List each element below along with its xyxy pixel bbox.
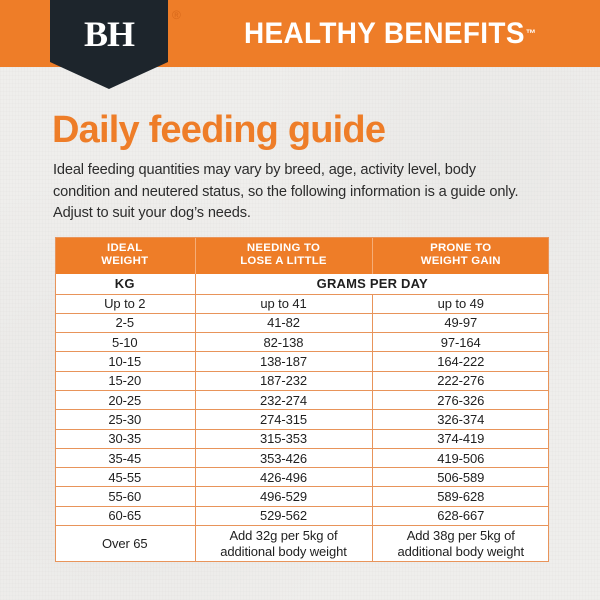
brand-title: HEALTHY BENEFITS™ (195, 0, 586, 67)
cell-lose-a-little: 529-562 (195, 506, 372, 525)
table-row: 55-60496-529589-628 (55, 487, 549, 506)
cell-lose-a-little: 274-315 (195, 410, 372, 429)
cell-weight-gain: Add 38g per 5kg ofadditional body weight (372, 526, 549, 562)
cell-ideal-weight: 15-20 (55, 371, 195, 390)
cell-line1: Add 32g per 5kg of (229, 528, 337, 543)
cell-weight-gain: up to 49 (372, 294, 549, 313)
table-row: 60-65529-562628-667 (55, 506, 549, 525)
cell-ideal-weight: Up to 2 (55, 294, 195, 313)
trademark-icon: ™ (526, 28, 536, 40)
table-row: 2-541-8249-97 (55, 313, 549, 332)
column-header-line2: LOSE A LITTLE (240, 255, 327, 267)
cell-weight-gain: 589-628 (372, 487, 549, 506)
cell-lose-a-little: 232-274 (195, 390, 372, 409)
column-header-line1: PRONE TO (430, 242, 491, 254)
table-body: Up to 2up to 41up to 492-541-8249-975-10… (55, 294, 549, 561)
table-row: 15-20187-232222-276 (55, 371, 549, 390)
cell-ideal-weight: 55-60 (55, 487, 195, 506)
feeding-guide-page: BH ® HEALTHY BENEFITS™ Daily feeding gui… (0, 0, 600, 600)
cell-weight-gain: 164-222 (372, 352, 549, 371)
table-row: 20-25232-274276-326 (55, 390, 549, 409)
table-row-over-65: Over 65Add 32g per 5kg ofadditional body… (55, 526, 549, 562)
cell-lose-a-little: 315-353 (195, 429, 372, 448)
table-row: 5-1082-13897-164 (55, 333, 549, 352)
intro-paragraph: Ideal feeding quantities may vary by bre… (53, 160, 523, 225)
cell-lose-a-little: 353-426 (195, 448, 372, 467)
cell-ideal-weight: 60-65 (55, 506, 195, 525)
column-header-line2: WEIGHT (101, 255, 148, 267)
cell-lose-a-little: 41-82 (195, 313, 372, 332)
cell-ideal-weight: 20-25 (55, 390, 195, 409)
cell-lose-a-little: 496-529 (195, 487, 372, 506)
cell-weight-gain: 506-589 (372, 468, 549, 487)
table-header-row: IDEAL WEIGHT NEEDING TO LOSE A LITTLE PR… (55, 237, 549, 274)
cell-ideal-weight: 35-45 (55, 448, 195, 467)
column-header-needing-to-lose-a-little: NEEDING TO LOSE A LITTLE (195, 237, 372, 274)
table-row: 30-35315-353374-419 (55, 429, 549, 448)
cell-weight-gain: 374-419 (372, 429, 549, 448)
column-header-line1: NEEDING TO (247, 242, 320, 254)
column-header-ideal-weight: IDEAL WEIGHT (55, 237, 195, 274)
cell-weight-gain: 49-97 (372, 313, 549, 332)
brand-title-text: HEALTHY BENEFITS (244, 17, 525, 51)
cell-ideal-weight: 10-15 (55, 352, 195, 371)
registered-trademark-icon: ® (172, 8, 181, 22)
table-row: 25-30274-315326-374 (55, 410, 549, 429)
cell-ideal-weight: 2-5 (55, 313, 195, 332)
cell-ideal-weight: 30-35 (55, 429, 195, 448)
cell-lose-a-little: 187-232 (195, 371, 372, 390)
feeding-guide-table: IDEAL WEIGHT NEEDING TO LOSE A LITTLE PR… (55, 237, 549, 561)
table-row: 35-45353-426419-506 (55, 448, 549, 467)
cell-weight-gain: 222-276 (372, 371, 549, 390)
cell-ideal-weight: Over 65 (55, 526, 195, 562)
cell-ideal-weight: 45-55 (55, 468, 195, 487)
brand-logo-bh: BH (50, 0, 168, 67)
cell-line1: Add 38g per 5kg of (407, 528, 515, 543)
cell-weight-gain: 326-374 (372, 410, 549, 429)
column-header-line2: WEIGHT GAIN (421, 255, 501, 267)
table-subheader-row: KG GRAMS PER DAY (55, 274, 549, 294)
subheader-unit-kg: KG (55, 274, 195, 294)
cell-weight-gain: 97-164 (372, 333, 549, 352)
table-row: Up to 2up to 41up to 49 (55, 294, 549, 313)
column-header-line1: IDEAL (107, 242, 142, 254)
cell-ideal-weight: 25-30 (55, 410, 195, 429)
cell-ideal-weight: 5-10 (55, 333, 195, 352)
cell-weight-gain: 628-667 (372, 506, 549, 525)
subheader-grams-per-day: GRAMS PER DAY (195, 274, 549, 294)
page-title: Daily feeding guide (52, 108, 385, 152)
table-row: 10-15138-187164-222 (55, 352, 549, 371)
cell-line2: additional body weight (398, 544, 524, 559)
cell-lose-a-little: Add 32g per 5kg ofadditional body weight (195, 526, 372, 562)
cell-weight-gain: 276-326 (372, 390, 549, 409)
cell-lose-a-little: up to 41 (195, 294, 372, 313)
cell-lose-a-little: 82-138 (195, 333, 372, 352)
cell-weight-gain: 419-506 (372, 448, 549, 467)
cell-lose-a-little: 138-187 (195, 352, 372, 371)
cell-line2: additional body weight (220, 544, 346, 559)
table-row: 45-55426-496506-589 (55, 468, 549, 487)
cell-lose-a-little: 426-496 (195, 468, 372, 487)
column-header-prone-to-weight-gain: PRONE TO WEIGHT GAIN (372, 237, 549, 274)
